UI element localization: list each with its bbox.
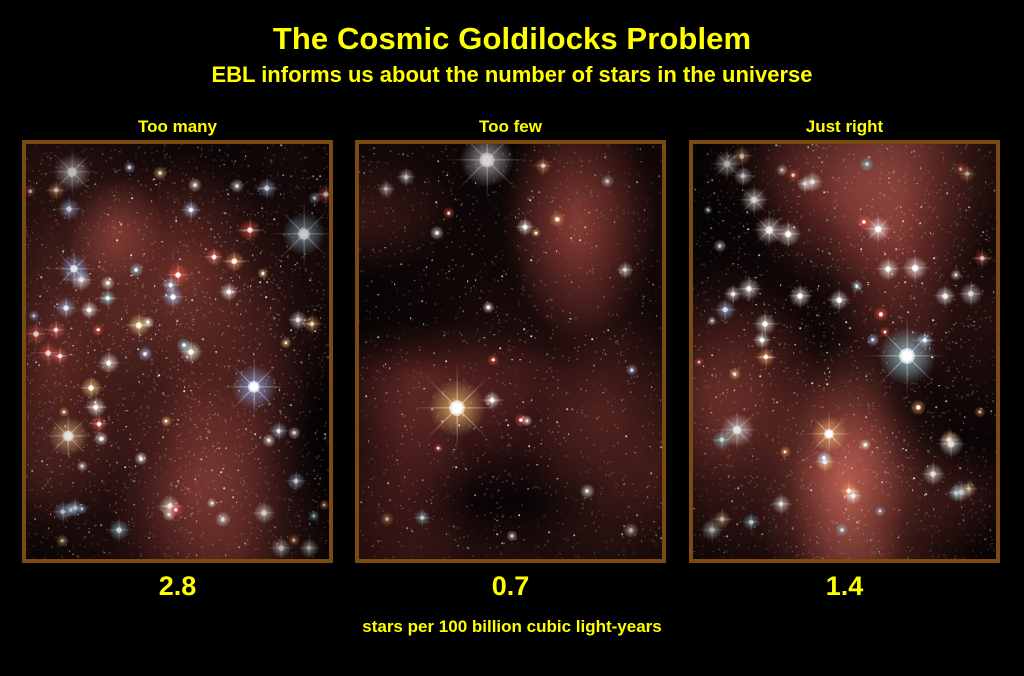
page-title: The Cosmic Goldilocks Problem bbox=[0, 20, 1024, 58]
panel-label-too-few: Too few bbox=[355, 116, 666, 137]
panel-value-too-many: 2.8 bbox=[22, 570, 333, 602]
panel-vignette-0 bbox=[26, 144, 329, 559]
star-field-panel-too-few bbox=[355, 140, 666, 563]
panel-value-too-few: 0.7 bbox=[355, 570, 666, 602]
panel-label-too-many: Too many bbox=[22, 116, 333, 137]
poster-canvas: The Cosmic Goldilocks Problem EBL inform… bbox=[0, 0, 1024, 676]
panel-label-just-right: Just right bbox=[689, 116, 1000, 137]
panel-vignette-1 bbox=[359, 144, 662, 559]
star-field-panel-too-many bbox=[22, 140, 333, 563]
page-subtitle: EBL informs us about the number of stars… bbox=[0, 61, 1024, 89]
star-field-panel-just-right bbox=[689, 140, 1000, 563]
